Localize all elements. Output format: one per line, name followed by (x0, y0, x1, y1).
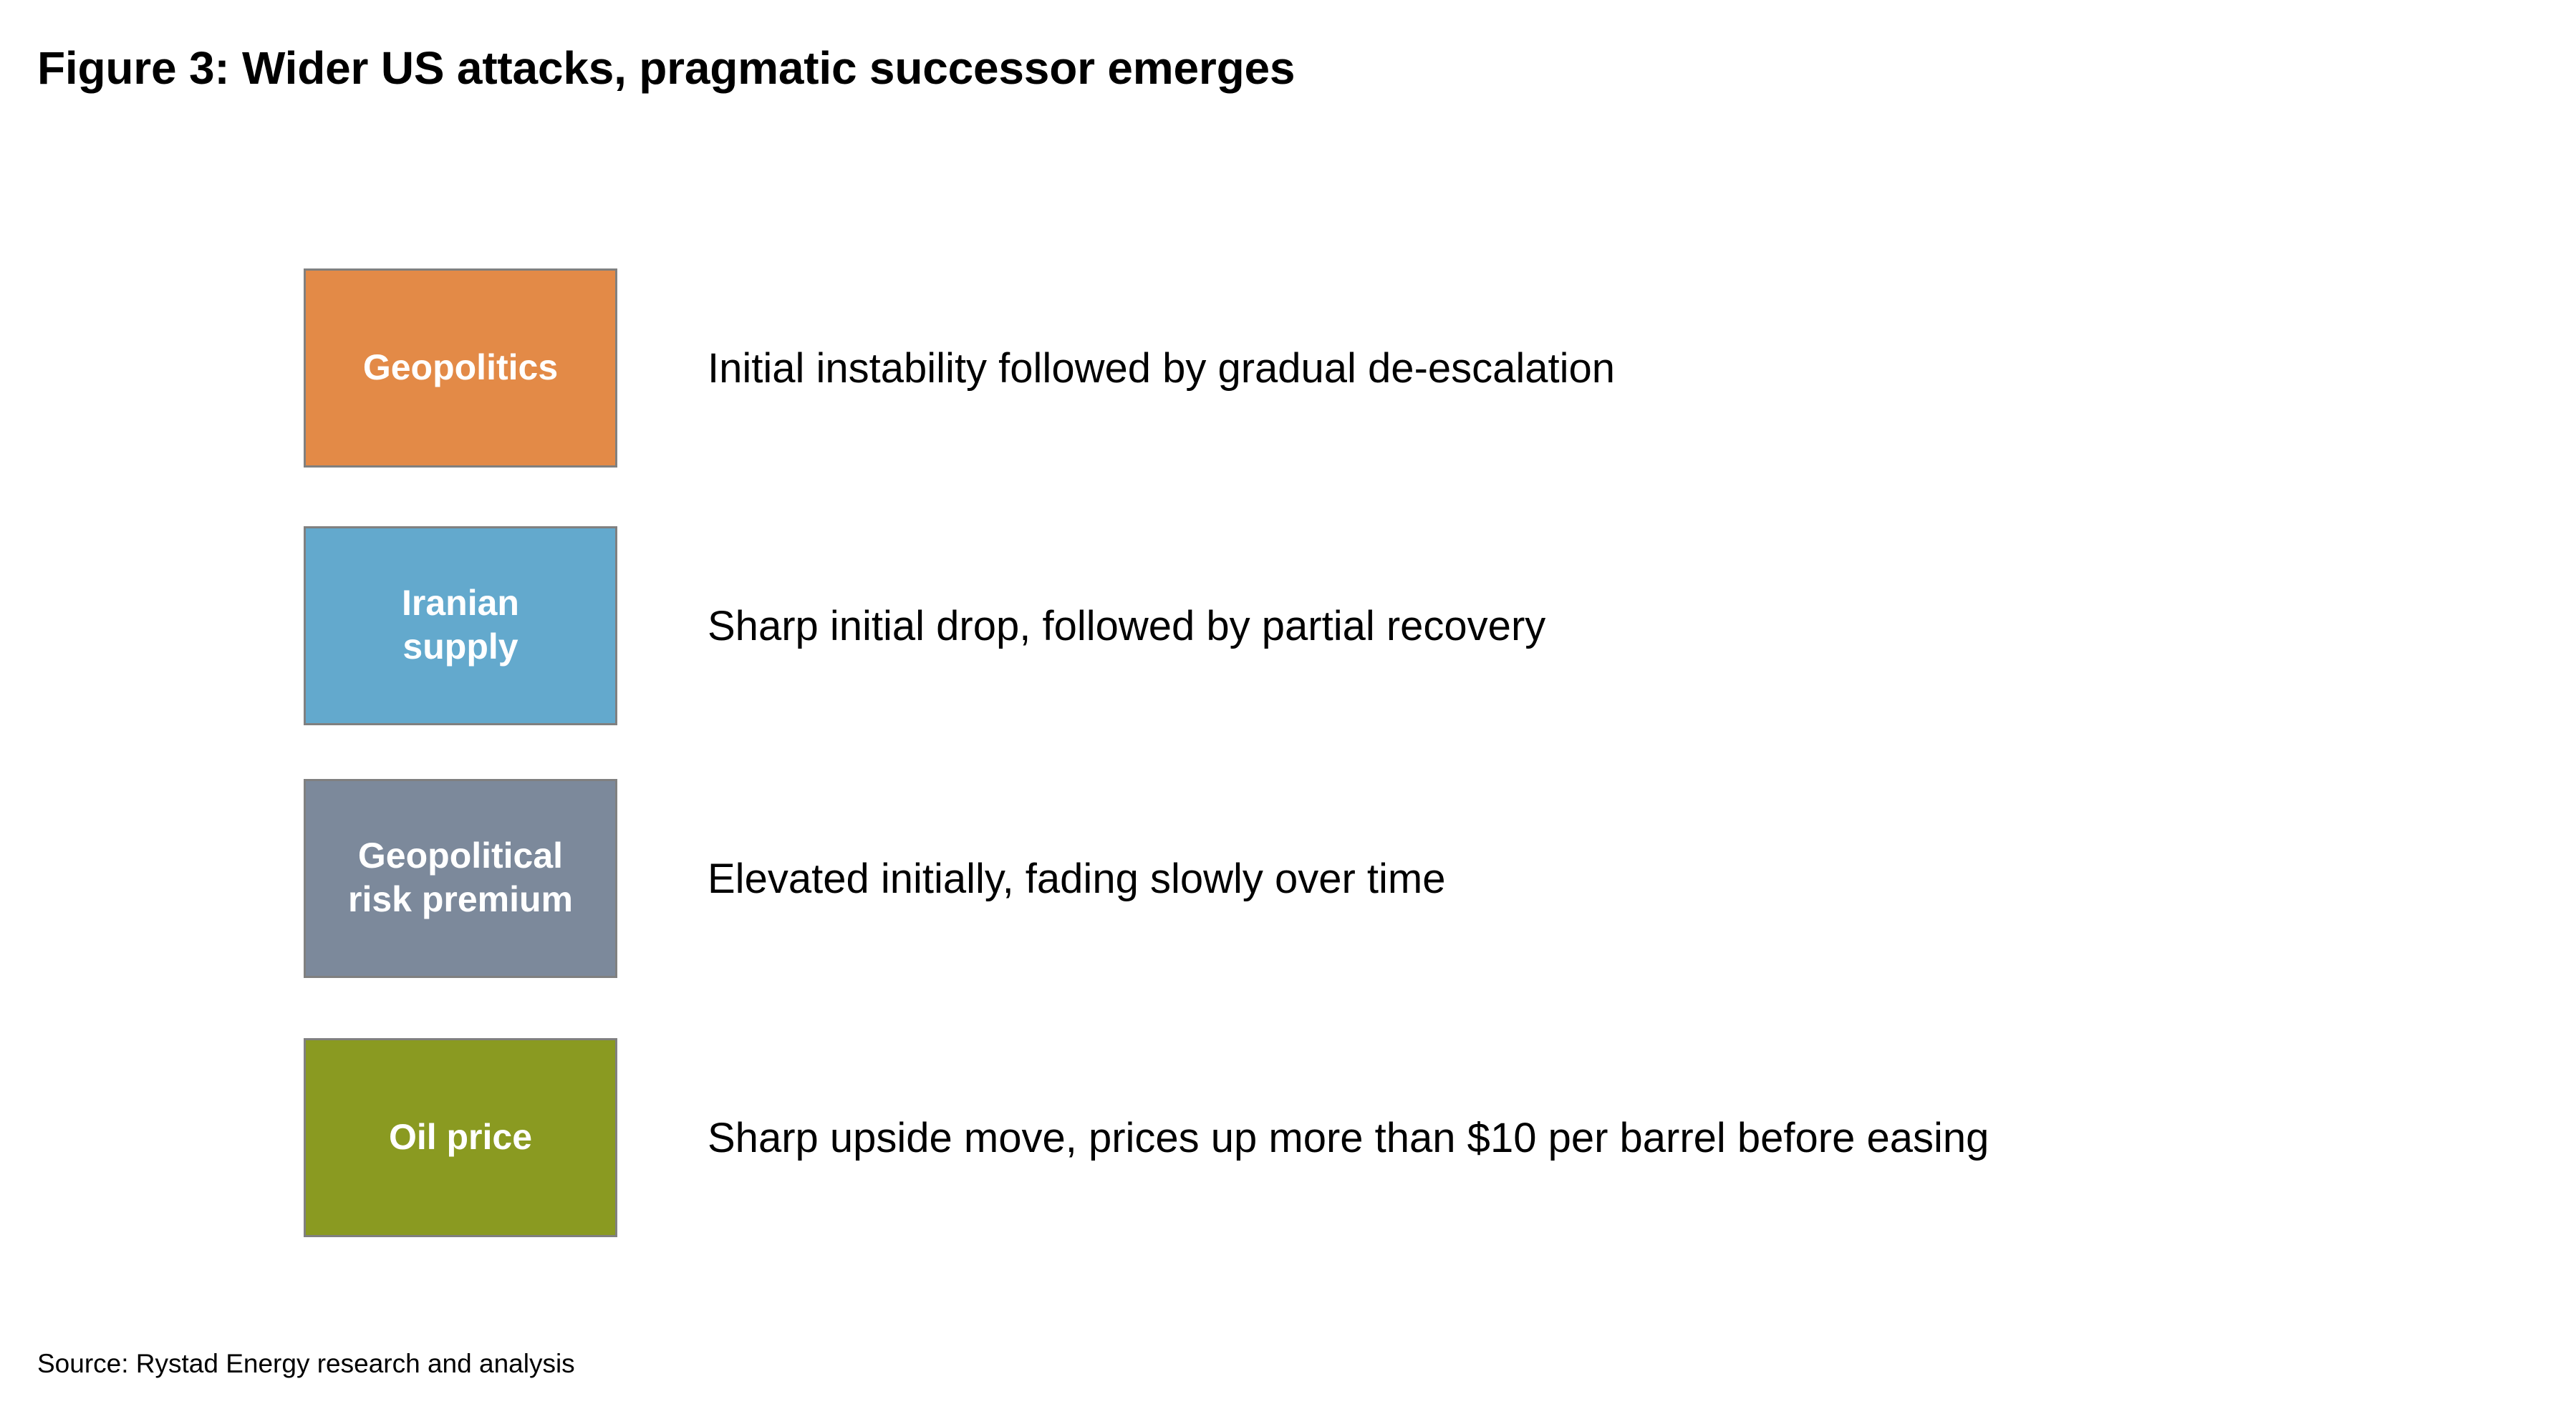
category-box-oil-price[interactable]: Oil price (304, 1038, 617, 1237)
list-item: Geopolitical risk premium Elevated initi… (0, 779, 2576, 981)
list-item: Iranian supply Sharp initial drop, follo… (0, 526, 2576, 728)
list-item: Geopolitics Initial instability followed… (0, 268, 2576, 470)
category-label: Oil price (389, 1115, 532, 1161)
source-note: Source: Rystad Energy research and analy… (37, 1349, 575, 1379)
page-title: Figure 3: Wider US attacks, pragmatic su… (37, 42, 1295, 95)
category-description: Sharp initial drop, followed by partial … (708, 526, 1545, 725)
list-item: Oil price Sharp upside move, prices up m… (0, 1038, 2576, 1240)
category-label: Iranian supply (402, 581, 519, 670)
category-description: Elevated initially, fading slowly over t… (708, 779, 1446, 978)
category-description: Initial instability followed by gradual … (708, 268, 1615, 468)
category-box-iranian-supply[interactable]: Iranian supply (304, 526, 617, 725)
category-description: Sharp upside move, prices up more than $… (708, 1038, 1989, 1237)
category-box-geopolitics[interactable]: Geopolitics (304, 268, 617, 468)
category-label: Geopolitics (363, 346, 558, 391)
category-box-geopolitical-risk-premium[interactable]: Geopolitical risk premium (304, 779, 617, 978)
category-label: Geopolitical risk premium (348, 834, 573, 923)
